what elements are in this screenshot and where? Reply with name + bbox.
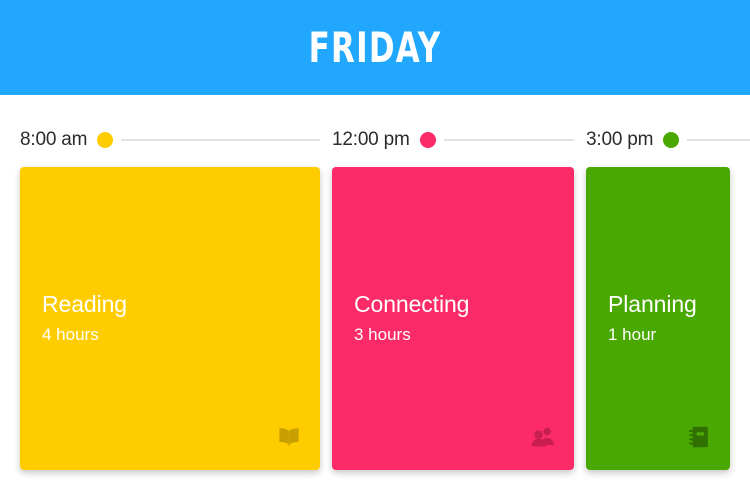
activity-card-text: Reading 4 hours <box>42 291 304 345</box>
timeline-slot-1: 8:00 am <box>20 124 320 156</box>
timeline-slot-3: 3:00 pm <box>586 124 750 156</box>
timeline-rule-3 <box>687 139 750 141</box>
activity-duration: 1 hour <box>608 325 714 345</box>
time-label-2: 12:00 pm <box>332 129 410 151</box>
activity-card-connecting[interactable]: Connecting 3 hours <box>332 167 574 470</box>
activity-title: Planning <box>608 291 714 317</box>
two-users-icon <box>530 424 556 450</box>
day-header: FRIDAY <box>0 0 750 95</box>
page-title: FRIDAY <box>309 27 442 69</box>
timeline-rule-2 <box>444 139 574 141</box>
activity-card-text: Connecting 3 hours <box>354 291 558 345</box>
time-label-1: 8:00 am <box>20 129 87 151</box>
timeline-dot-icon-2 <box>420 132 436 148</box>
activity-title: Connecting <box>354 291 558 317</box>
activity-title: Reading <box>42 291 304 317</box>
activity-duration: 3 hours <box>354 325 558 345</box>
timeline-dot-icon-3 <box>663 132 679 148</box>
timeline-slot-2: 12:00 pm <box>332 124 574 156</box>
open-book-icon <box>276 424 302 450</box>
activity-card-reading[interactable]: Reading 4 hours <box>20 167 320 470</box>
notebook-icon <box>686 424 712 450</box>
activity-card-planning[interactable]: Planning 1 hour <box>586 167 730 470</box>
activity-card-text: Planning 1 hour <box>608 291 714 345</box>
timeline-dot-icon-1 <box>97 132 113 148</box>
time-label-3: 3:00 pm <box>586 129 653 151</box>
timeline-rule-1 <box>121 139 320 141</box>
timeline: 8:00 am 12:00 pm 3:00 pm <box>0 124 750 156</box>
activity-duration: 4 hours <box>42 325 304 345</box>
